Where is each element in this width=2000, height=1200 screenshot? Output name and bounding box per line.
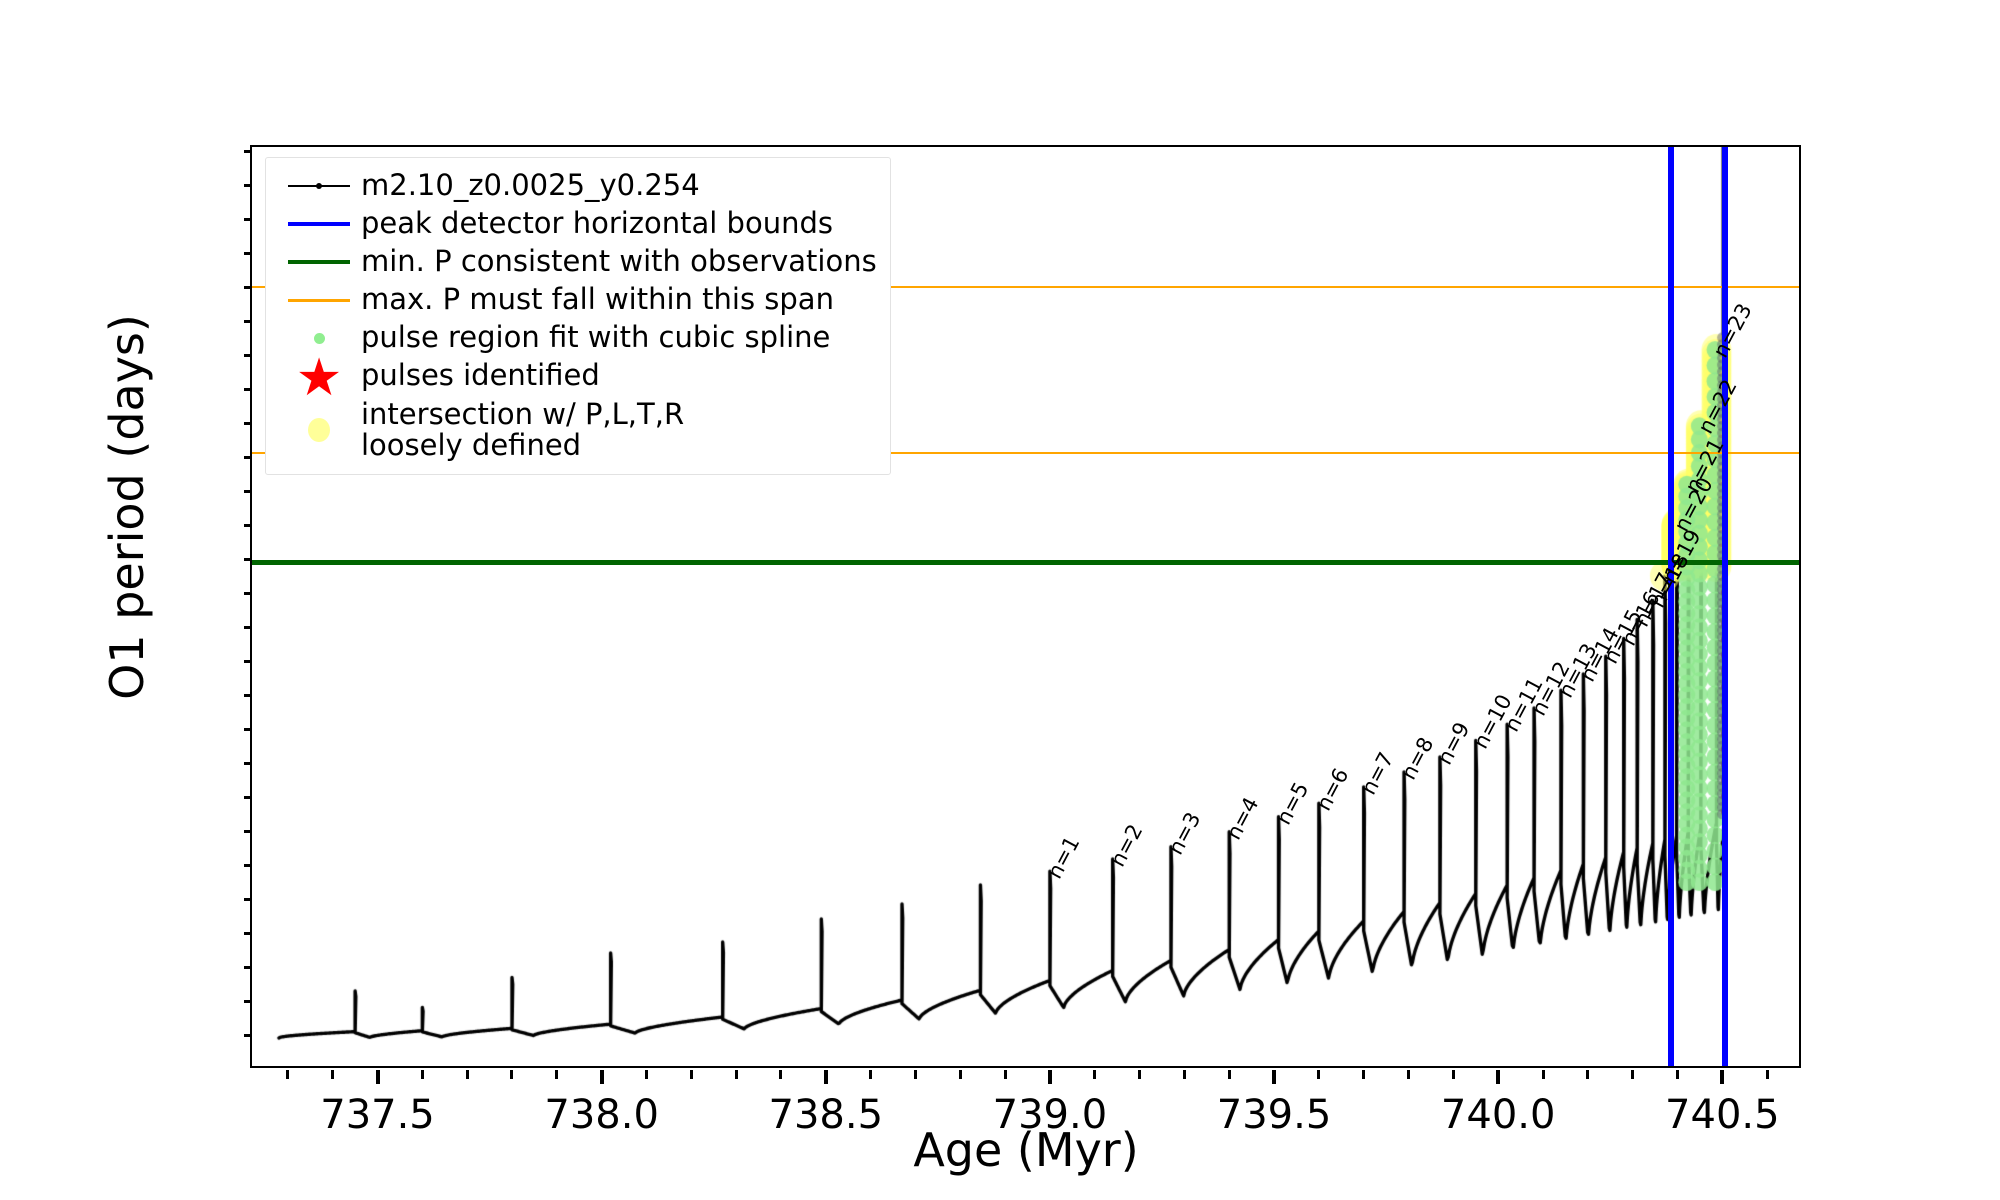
legend-line-swatch	[277, 167, 361, 205]
x-tick-minor	[510, 1070, 513, 1079]
y-tick-minor	[244, 966, 252, 969]
x-tick-minor	[1766, 1070, 1769, 1079]
line-swatch-icon	[288, 222, 350, 226]
x-tick-minor	[914, 1070, 917, 1079]
x-tick-minor	[286, 1070, 289, 1079]
y-tick-minor	[244, 762, 252, 765]
y-tick-minor	[244, 456, 252, 459]
x-tick-minor	[1676, 1070, 1679, 1079]
y-tick-minor	[244, 932, 252, 935]
x-tick-minor	[1093, 1070, 1096, 1079]
x-tick-minor	[1452, 1070, 1455, 1079]
x-tick-major	[1272, 1070, 1276, 1084]
y-tick-minor	[244, 796, 252, 799]
legend-entry: pulse region fit with cubic spline	[277, 319, 877, 357]
x-tick-major	[1496, 1070, 1500, 1084]
x-tick-label: 738.5	[769, 1092, 884, 1138]
x-tick-label: 739.0	[993, 1092, 1108, 1138]
legend-line-swatch	[277, 281, 361, 319]
x-tick-minor	[645, 1070, 648, 1079]
y-tick-minor	[244, 1000, 252, 1003]
chart-figure: O1 period (days) Age (Myr) n=1n=2n=3n=4n…	[0, 0, 2000, 1200]
legend-label: intersection w/ P,L,T,Rloosely defined	[361, 399, 684, 461]
x-tick-minor	[1542, 1070, 1545, 1079]
x-tick-minor	[1004, 1070, 1007, 1079]
legend-label: max. P must fall within this span	[361, 284, 834, 315]
legend-label: pulse region fit with cubic spline	[361, 322, 830, 353]
y-tick-minor	[244, 558, 252, 561]
x-tick-label: 740.5	[1665, 1092, 1780, 1138]
y-tick-minor	[244, 490, 252, 493]
y-tick-minor	[244, 422, 252, 425]
x-tick-major	[824, 1070, 828, 1084]
y-tick-minor	[244, 898, 252, 901]
legend-entry: max. P must fall within this span	[277, 281, 877, 319]
x-tick-minor	[1138, 1070, 1141, 1079]
x-tick-minor	[1631, 1070, 1634, 1079]
legend-label: min. P consistent with observations	[361, 246, 877, 277]
legend-entry: m2.10_z0.0025_y0.254	[277, 167, 877, 205]
intersection-blob-icon	[308, 418, 330, 442]
plot-area: n=1n=2n=3n=4n=5n=6n=7n=8n=9n=10n=11n=12n…	[250, 145, 1801, 1068]
line-marker-dot-icon	[316, 183, 322, 189]
y-tick-minor	[244, 184, 252, 187]
legend-label: peak detector horizontal bounds	[361, 208, 833, 239]
legend-label: m2.10_z0.0025_y0.254	[361, 170, 700, 201]
legend-entry: min. P consistent with observations	[277, 243, 877, 281]
y-tick-minor	[244, 830, 252, 833]
y-axis-title: O1 period (days)	[100, 147, 154, 867]
legend-star-swatch: ★	[277, 357, 361, 395]
y-tick-minor	[244, 728, 252, 731]
x-tick-label: 740.0	[1441, 1092, 1556, 1138]
y-tick-minor	[244, 150, 252, 153]
x-tick-label: 738.0	[544, 1092, 659, 1138]
legend-line-swatch	[277, 205, 361, 243]
min-p-line	[252, 560, 1799, 565]
y-tick-minor	[244, 524, 252, 527]
x-tick-minor	[1228, 1070, 1231, 1079]
spline-dot-icon	[314, 333, 325, 344]
x-tick-major	[1720, 1070, 1724, 1084]
x-tick-minor	[1362, 1070, 1365, 1079]
x-tick-label: 739.5	[1217, 1092, 1332, 1138]
x-tick-minor	[735, 1070, 738, 1079]
y-tick-minor	[244, 388, 252, 391]
legend-label: pulses identified	[361, 360, 600, 391]
y-tick-minor	[244, 252, 252, 255]
x-tick-minor	[555, 1070, 558, 1079]
y-tick-minor	[244, 592, 252, 595]
legend-entry: peak detector horizontal bounds	[277, 205, 877, 243]
x-tick-minor	[1317, 1070, 1320, 1079]
y-tick-minor	[244, 320, 252, 323]
x-tick-minor	[421, 1070, 424, 1079]
legend: m2.10_z0.0025_y0.254peak detector horizo…	[265, 157, 891, 475]
legend-entry: intersection w/ P,L,T,Rloosely defined	[277, 395, 877, 465]
legend-line-swatch	[277, 243, 361, 281]
peak-detector-bound	[1722, 147, 1728, 1066]
y-tick-minor	[244, 354, 252, 357]
x-tick-minor	[1407, 1070, 1410, 1079]
x-tick-minor	[331, 1070, 334, 1079]
y-tick-minor	[244, 694, 252, 697]
line-swatch-icon	[288, 260, 350, 264]
legend-label-line1: intersection w/ P,L,T,R	[361, 399, 684, 430]
legend-label-line2: loosely defined	[361, 430, 684, 461]
y-tick-minor	[244, 286, 252, 289]
y-tick-minor	[244, 1034, 252, 1037]
legend-blob-swatch	[277, 411, 361, 449]
x-tick-minor	[466, 1070, 469, 1079]
y-tick-minor	[244, 626, 252, 629]
line-swatch-icon	[288, 299, 350, 302]
x-tick-major	[376, 1070, 380, 1084]
x-tick-minor	[959, 1070, 962, 1079]
x-tick-label: 737.5	[320, 1092, 435, 1138]
x-tick-major	[1048, 1070, 1052, 1084]
x-tick-minor	[779, 1070, 782, 1079]
legend-entry: ★pulses identified	[277, 357, 877, 395]
y-tick-minor	[244, 864, 252, 867]
x-tick-minor	[690, 1070, 693, 1079]
x-tick-minor	[1183, 1070, 1186, 1079]
x-tick-major	[600, 1070, 604, 1084]
x-tick-minor	[869, 1070, 872, 1079]
y-tick-minor	[244, 218, 252, 221]
x-tick-minor	[1586, 1070, 1589, 1079]
y-tick-minor	[244, 660, 252, 663]
